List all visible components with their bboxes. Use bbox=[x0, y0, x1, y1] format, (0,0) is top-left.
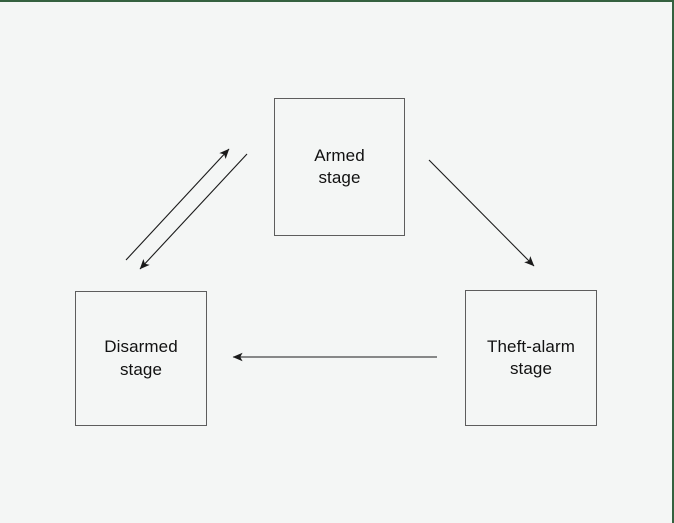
edge-line-armed-to-disarmed bbox=[140, 154, 247, 269]
state-node-theft-alarm-label: Theft-alarm stage bbox=[481, 336, 581, 381]
diagram-edges-layer bbox=[0, 2, 674, 523]
state-node-armed-label: Armed stage bbox=[308, 145, 371, 190]
edge-line-armed-to-theft-alarm bbox=[429, 160, 534, 266]
state-node-disarmed-label: Disarmed stage bbox=[98, 336, 184, 381]
edge-armed-to-theft-alarm bbox=[429, 160, 534, 266]
edge-disarmed-to-armed bbox=[126, 149, 229, 260]
diagram-canvas: Armed stage Disarmed stage Theft-alarm s… bbox=[0, 0, 674, 523]
state-node-theft-alarm[interactable]: Theft-alarm stage bbox=[465, 290, 597, 426]
state-node-disarmed[interactable]: Disarmed stage bbox=[75, 291, 207, 426]
edge-line-disarmed-to-armed bbox=[126, 149, 229, 260]
edge-armed-to-disarmed bbox=[140, 154, 247, 269]
state-node-armed[interactable]: Armed stage bbox=[274, 98, 405, 236]
